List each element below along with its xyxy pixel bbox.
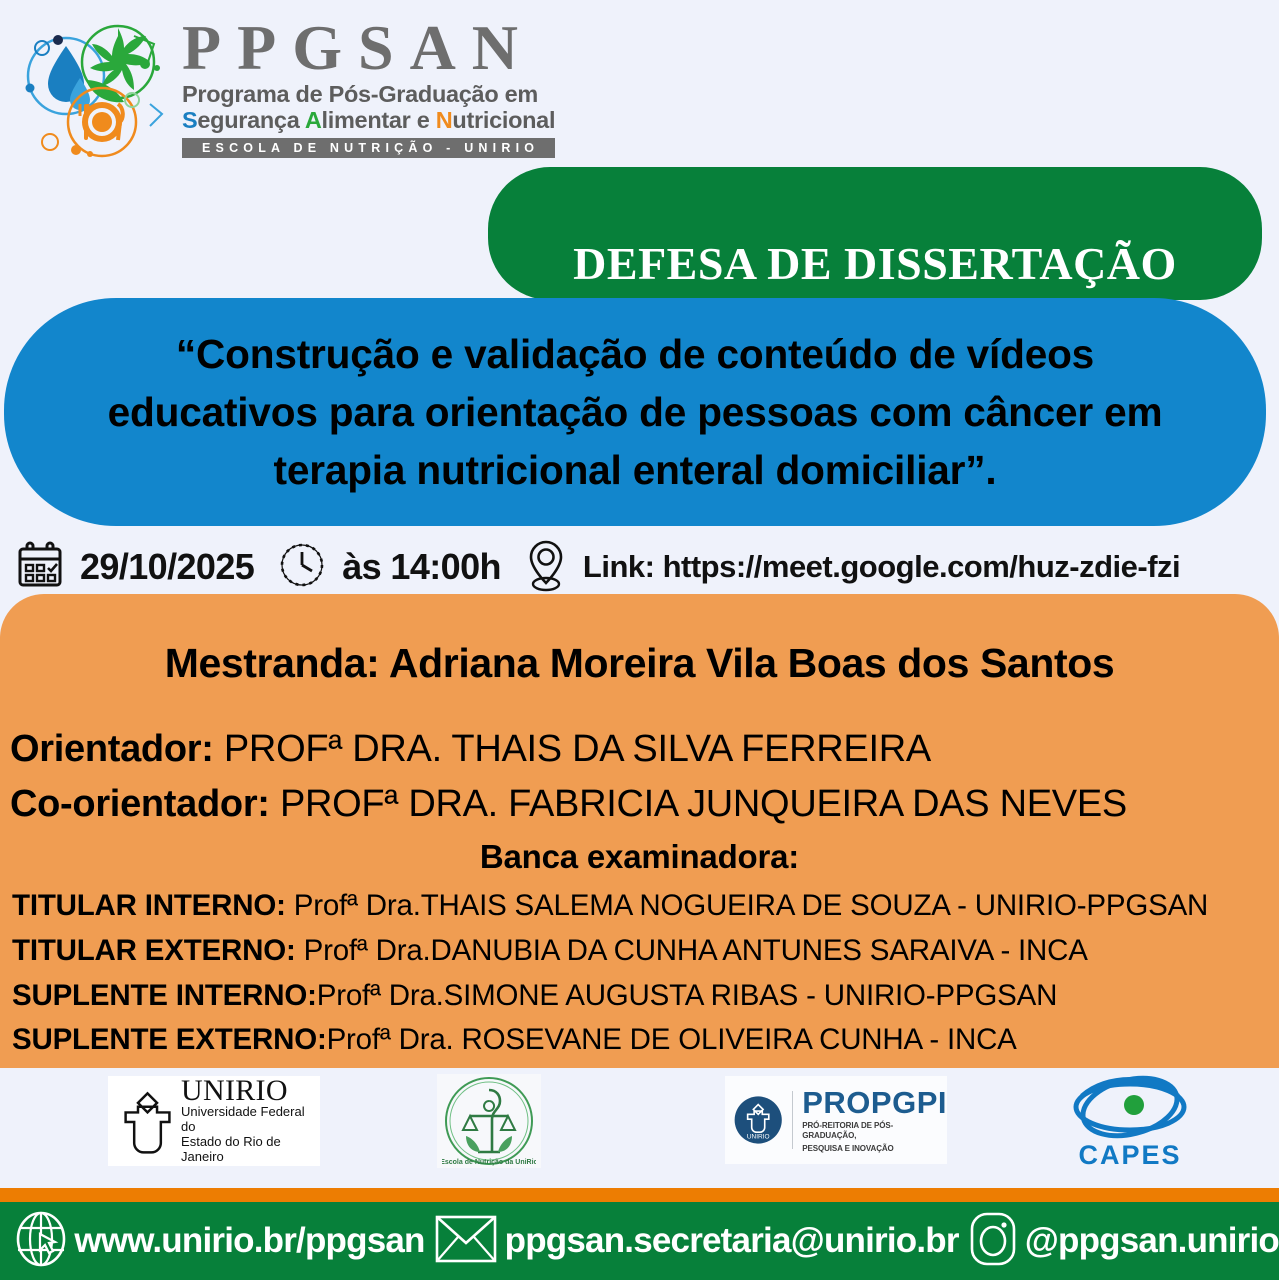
banca-member-role: TITULAR INTERNO: (12, 889, 286, 922)
capes-logo: CAPES (1060, 1074, 1200, 1170)
coorientador-label: Co-orientador: (10, 783, 270, 825)
footer-instagram[interactable]: @ppgsan.unirio (1025, 1221, 1279, 1261)
location-pin-icon (523, 538, 569, 597)
propgpi-divider (792, 1091, 793, 1149)
logo-school-strip: ESCOLA DE NUTRIÇÃO - UNIRIO (182, 138, 555, 158)
event-info-row: 29/10/2025 às 14:00h Link: https://meet.… (14, 536, 1269, 598)
escola-caption: Escola de Nutrição da UniRio (442, 1159, 536, 1166)
event-date: 29/10/2025 (80, 546, 254, 588)
unirio-subtitle-line2: Estado do Rio de Janeiro (181, 1135, 320, 1165)
event-link[interactable]: Link: https://meet.google.com/huz-zdie-f… (583, 549, 1180, 585)
banca-member-person: Profª Dra. ROSEVANE DE OLIVEIRA CUNHA - … (327, 1023, 1017, 1056)
ppgsan-logo-mark-icon (14, 18, 174, 158)
banca-list: TITULAR INTERNO: Profª Dra.THAIS SALEMA … (12, 884, 1272, 1063)
banca-member-role: SUPLENTE EXTERNO: (12, 1023, 327, 1056)
banca-member-person: Profª Dra.DANUBIA DA CUNHA ANTUNES SARAI… (296, 934, 1088, 967)
advisors-block: Orientador: PROFª DRA. THAIS DA SILVA FE… (10, 722, 1269, 832)
propgpi-badge-label: UNIRIO (747, 1134, 770, 1141)
event-type-label: DEFESA DE DISSERTAÇÃO (573, 237, 1177, 290)
footer-contact-bar: www.unirio.br/ppgsan ppgsan.secretaria@u… (0, 1202, 1279, 1280)
globe-icon (14, 1210, 68, 1273)
poster-root: PPGSAN Programa de Pós-Graduação em Segu… (0, 0, 1279, 1280)
banca-member-person: Profª Dra.THAIS SALEMA NOGUEIRA DE SOUZA… (286, 889, 1208, 922)
orientador-label: Orientador: (10, 728, 214, 770)
footer-email[interactable]: ppgsan.secretaria@unirio.br (505, 1221, 959, 1261)
clock-icon (276, 539, 328, 596)
propgpi-wordmark: PROPGPI (802, 1087, 947, 1118)
coorientador-name: PROFª DRA. FABRICIA JUNQUEIRA DAS NEVES (280, 783, 1127, 825)
instagram-icon (968, 1210, 1018, 1273)
orientador-name: PROFª DRA. THAIS DA SILVA FERREIRA (224, 728, 931, 770)
banca-member-role: SUPLENTE INTERNO: (12, 979, 317, 1012)
capes-wordmark: CAPES (1060, 1140, 1200, 1171)
calendar-icon (14, 539, 66, 596)
propgpi-logo: UNIRIO PROPGPI PRÓ-REITORIA DE PÓS-GRADU… (725, 1076, 947, 1164)
banca-member: SUPLENTE INTERNO:Profª Dra.SIMONE AUGUST… (12, 974, 1272, 1019)
escola-nutricao-logo: Escola de Nutrição da UniRio (437, 1074, 541, 1168)
email-icon (434, 1213, 498, 1270)
mestranda-name: Adriana Moreira Vila Boas dos Santos (389, 640, 1114, 686)
propgpi-subtitle-line2: PESQUISA E INOVAÇÃO (802, 1144, 947, 1154)
event-time: às 14:00h (342, 546, 501, 588)
coorientador-row: Co-orientador: PROFª DRA. FABRICIA JUNQU… (10, 777, 1269, 832)
banca-member: TITULAR INTERNO: Profª Dra.THAIS SALEMA … (12, 884, 1272, 929)
banca-member-role: TITULAR EXTERNO: (12, 934, 296, 967)
orientador-row: Orientador: PROFª DRA. THAIS DA SILVA FE… (10, 722, 1269, 777)
unirio-logo: UNIRIO Universidade Federal do Estado do… (108, 1076, 320, 1166)
event-type-banner: DEFESA DE DISSERTAÇÃO (488, 167, 1262, 300)
sponsor-logos: UNIRIO Universidade Federal do Estado do… (0, 1068, 1279, 1190)
banca-member-person: Profª Dra.SIMONE AUGUSTA RIBAS - UNIRIO-… (317, 979, 1057, 1012)
footer-website[interactable]: www.unirio.br/ppgsan (74, 1221, 424, 1261)
ppgsan-logo: PPGSAN Programa de Pós-Graduação em Segu… (14, 18, 514, 158)
unirio-subtitle-line1: Universidade Federal do (181, 1105, 320, 1135)
banca-member: SUPLENTE EXTERNO:Profª Dra. ROSEVANE DE … (12, 1018, 1272, 1063)
mestranda-label: Mestranda: (165, 640, 380, 686)
logo-area-line: Segurança Alimentar e Nutricional (182, 107, 555, 133)
footer-orange-stripe (0, 1188, 1279, 1202)
logo-program-line: Programa de Pós-Graduação em (182, 81, 555, 107)
unirio-wordmark: UNIRIO (181, 1077, 320, 1106)
propgpi-subtitle-line1: PRÓ-REITORIA DE PÓS-GRADUAÇÃO, (802, 1121, 947, 1141)
banca-title: Banca examinadora: (0, 838, 1279, 876)
banca-member: TITULAR EXTERNO: Profª Dra.DANUBIA DA CU… (12, 929, 1272, 974)
thesis-title: “Construção e validação de conteúdo de v… (86, 325, 1185, 500)
mestranda-row: Mestranda: Adriana Moreira Vila Boas dos… (0, 640, 1279, 687)
thesis-title-banner: “Construção e validação de conteúdo de v… (4, 298, 1266, 526)
logo-acronym: PPGSAN (182, 18, 555, 79)
